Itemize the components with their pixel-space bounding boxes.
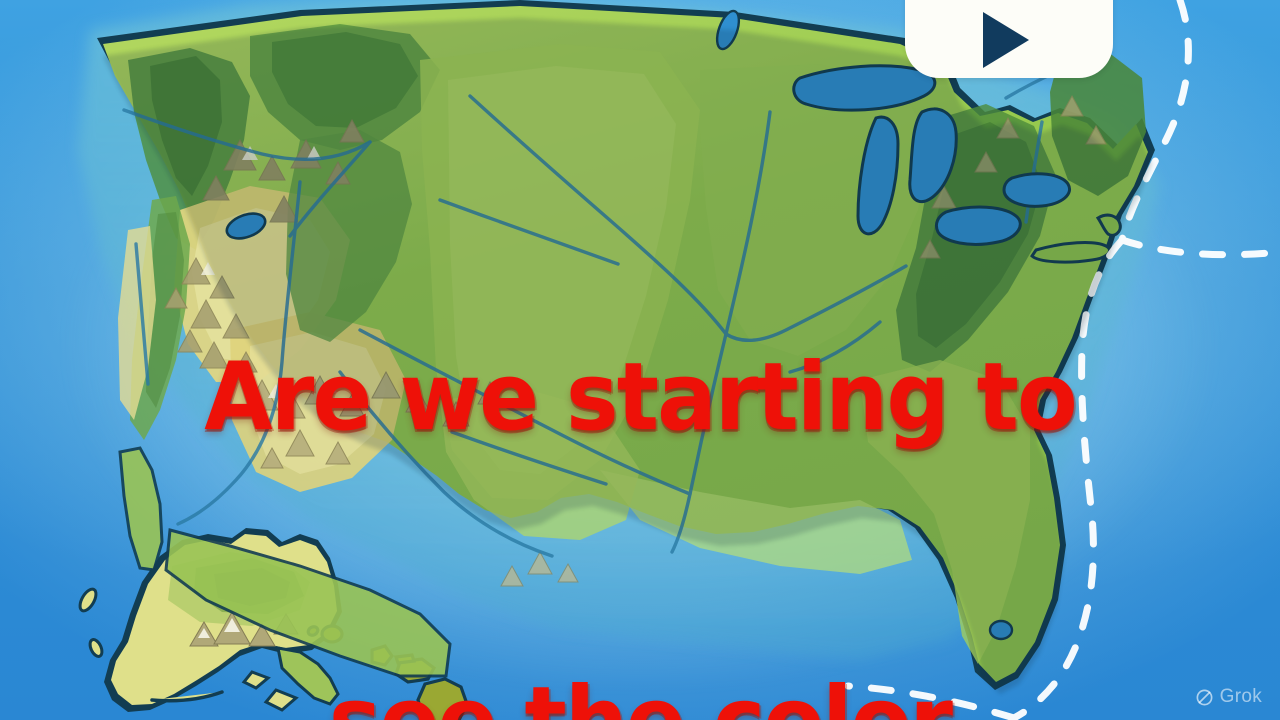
thumbnail-canvas: Are we starting to see the color revolut… [0, 0, 1280, 720]
headline-line-1: Are we starting to [38, 344, 1241, 452]
headline-text: Are we starting to see the color revolut… [38, 128, 1241, 720]
grok-slashed-circle-icon [1195, 688, 1214, 707]
play-button[interactable] [905, 0, 1113, 78]
grok-watermark: Grok [1195, 686, 1262, 708]
grok-watermark-label: Grok [1220, 686, 1262, 708]
play-triangle-icon [983, 12, 1029, 68]
headline-line-2: see the color [38, 668, 1241, 720]
